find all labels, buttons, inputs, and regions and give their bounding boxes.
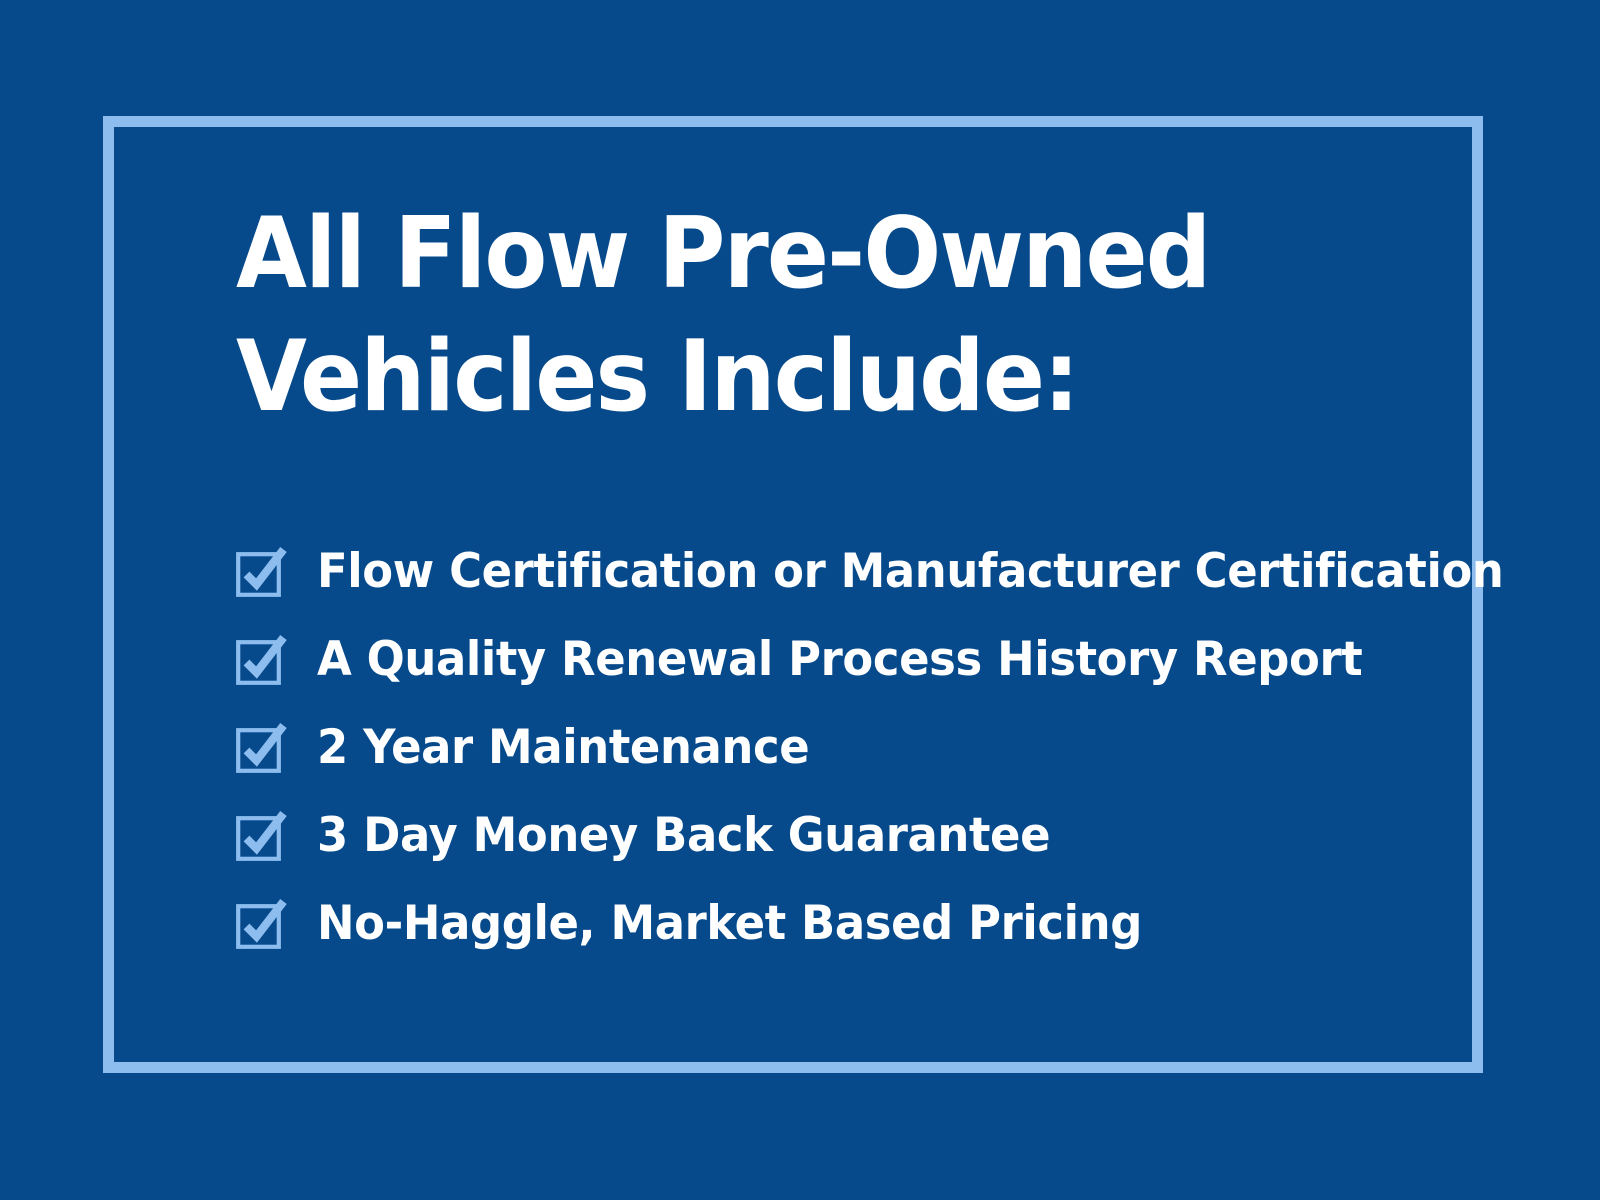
- list-item-label: A Quality Renewal Process History Report: [317, 635, 1362, 685]
- benefits-list: Flow Certification or Manufacturer Certi…: [236, 528, 1456, 968]
- list-item-label: 3 Day Money Back Guarantee: [317, 811, 1050, 861]
- page-title: All Flow Pre-Owned Vehicles Include:: [236, 193, 1336, 439]
- checkbox-checked-icon: [236, 723, 286, 773]
- page-title-line-2: Vehicles Include:: [236, 316, 1265, 439]
- promotional-poster: All Flow Pre-Owned Vehicles Include: Flo…: [0, 0, 1600, 1200]
- page-title-line-1: All Flow Pre-Owned: [236, 193, 1265, 316]
- list-item-label: 2 Year Maintenance: [317, 723, 809, 773]
- list-item: A Quality Renewal Process History Report: [236, 616, 1456, 704]
- list-item: 3 Day Money Back Guarantee: [236, 792, 1456, 880]
- list-item: 2 Year Maintenance: [236, 704, 1456, 792]
- checkbox-checked-icon: [236, 547, 286, 597]
- list-item: No-Haggle, Market Based Pricing: [236, 880, 1456, 968]
- checkbox-checked-icon: [236, 899, 286, 949]
- list-item-label: No-Haggle, Market Based Pricing: [317, 899, 1142, 949]
- checkbox-checked-icon: [236, 811, 286, 861]
- list-item-label: Flow Certification or Manufacturer Certi…: [317, 547, 1504, 597]
- checkbox-checked-icon: [236, 635, 286, 685]
- list-item: Flow Certification or Manufacturer Certi…: [236, 528, 1456, 616]
